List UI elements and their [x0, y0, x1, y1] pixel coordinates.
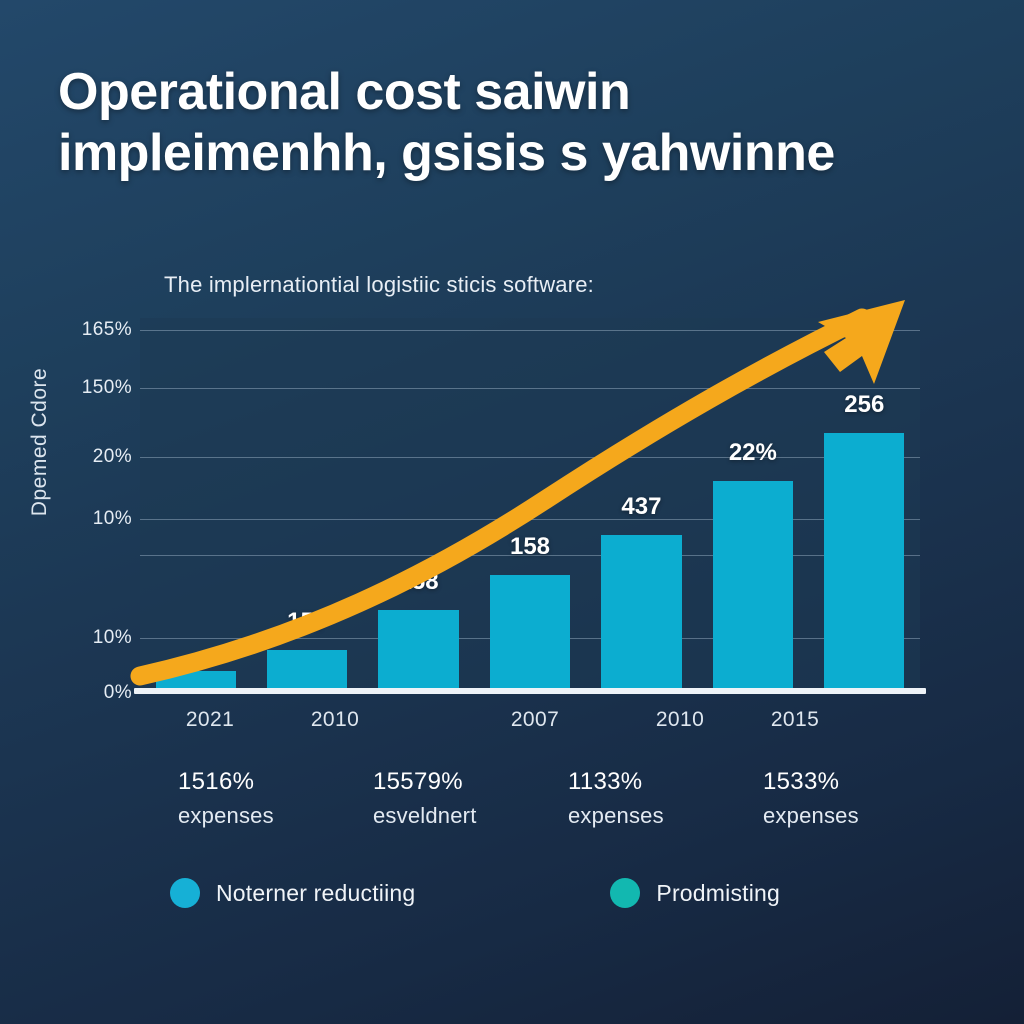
bar[interactable] [824, 433, 904, 693]
chart-title-line-2: impleimenhh, gsisis s yahwinne [58, 123, 978, 184]
stat-label: expenses [178, 800, 345, 832]
chart-title-line-1: Operational cost saiwin [58, 62, 978, 123]
y-axis-tick-label: 165% [52, 319, 132, 341]
legend-item[interactable]: Noterner reductiing [170, 878, 415, 908]
stat-value: 1133% [568, 765, 735, 800]
stat-value: 15579% [373, 765, 540, 800]
chart-legend: Noterner reductiingProdmisting [170, 878, 780, 908]
x-axis-tick-label: 2010 [656, 708, 704, 732]
chart-subtitle: The implernationtial logistiic sticis so… [164, 272, 594, 298]
stat-item: 1533%expenses [735, 765, 930, 832]
gridline [140, 388, 920, 389]
bar[interactable] [267, 650, 347, 693]
chart-canvas: Operational cost saiwin impleimenhh, gsi… [0, 0, 1024, 1024]
stat-item: 1516%expenses [150, 765, 345, 832]
gridline [140, 457, 920, 458]
bar-value-label: 158 [510, 533, 550, 561]
bar[interactable] [713, 481, 793, 693]
stat-label: expenses [763, 800, 930, 832]
stat-label: esveldnert [373, 800, 540, 832]
bar-value-label: 256 [844, 391, 884, 419]
x-axis-tick-label: 2010 [311, 708, 359, 732]
y-axis-tick-label: 10% [52, 627, 132, 649]
stat-value: 1516% [178, 765, 345, 800]
bar-value-label: 158 [399, 568, 439, 596]
legend-label: Noterner reductiing [216, 880, 415, 907]
gridline [140, 330, 920, 331]
y-axis-tick-label: 20% [52, 446, 132, 468]
legend-swatch-icon [610, 878, 640, 908]
x-axis-tick-label: 2021 [186, 708, 234, 732]
bar-value-label: 22% [729, 439, 777, 467]
bar[interactable] [601, 535, 681, 693]
plot-area [140, 318, 920, 693]
bar-value-label: 157 [287, 608, 327, 636]
y-axis-tick-label: 0% [52, 682, 132, 704]
chart-title: Operational cost saiwin impleimenhh, gsi… [58, 62, 978, 185]
stats-row: 1516%expenses15579%esveldnert1133%expens… [150, 765, 940, 832]
legend-label: Prodmisting [656, 880, 780, 907]
legend-item[interactable]: Prodmisting [610, 878, 780, 908]
stat-value: 1533% [763, 765, 930, 800]
legend-swatch-icon [170, 878, 200, 908]
stat-item: 15579%esveldnert [345, 765, 540, 832]
y-axis-tick-label: 150% [52, 377, 132, 399]
y-axis-tick-label: 10% [52, 508, 132, 530]
stat-item: 1133%expenses [540, 765, 735, 832]
y-axis-ticks: 165%150%20%10%10%0% [48, 318, 132, 693]
bar[interactable] [490, 575, 570, 693]
stat-label: expenses [568, 800, 735, 832]
x-axis-tick-label: 2007 [511, 708, 559, 732]
x-axis-line [134, 688, 926, 694]
gridline [140, 519, 920, 520]
bar[interactable] [378, 610, 458, 693]
x-axis-tick-label: 2015 [771, 708, 819, 732]
bar-value-label: 437 [621, 493, 661, 521]
